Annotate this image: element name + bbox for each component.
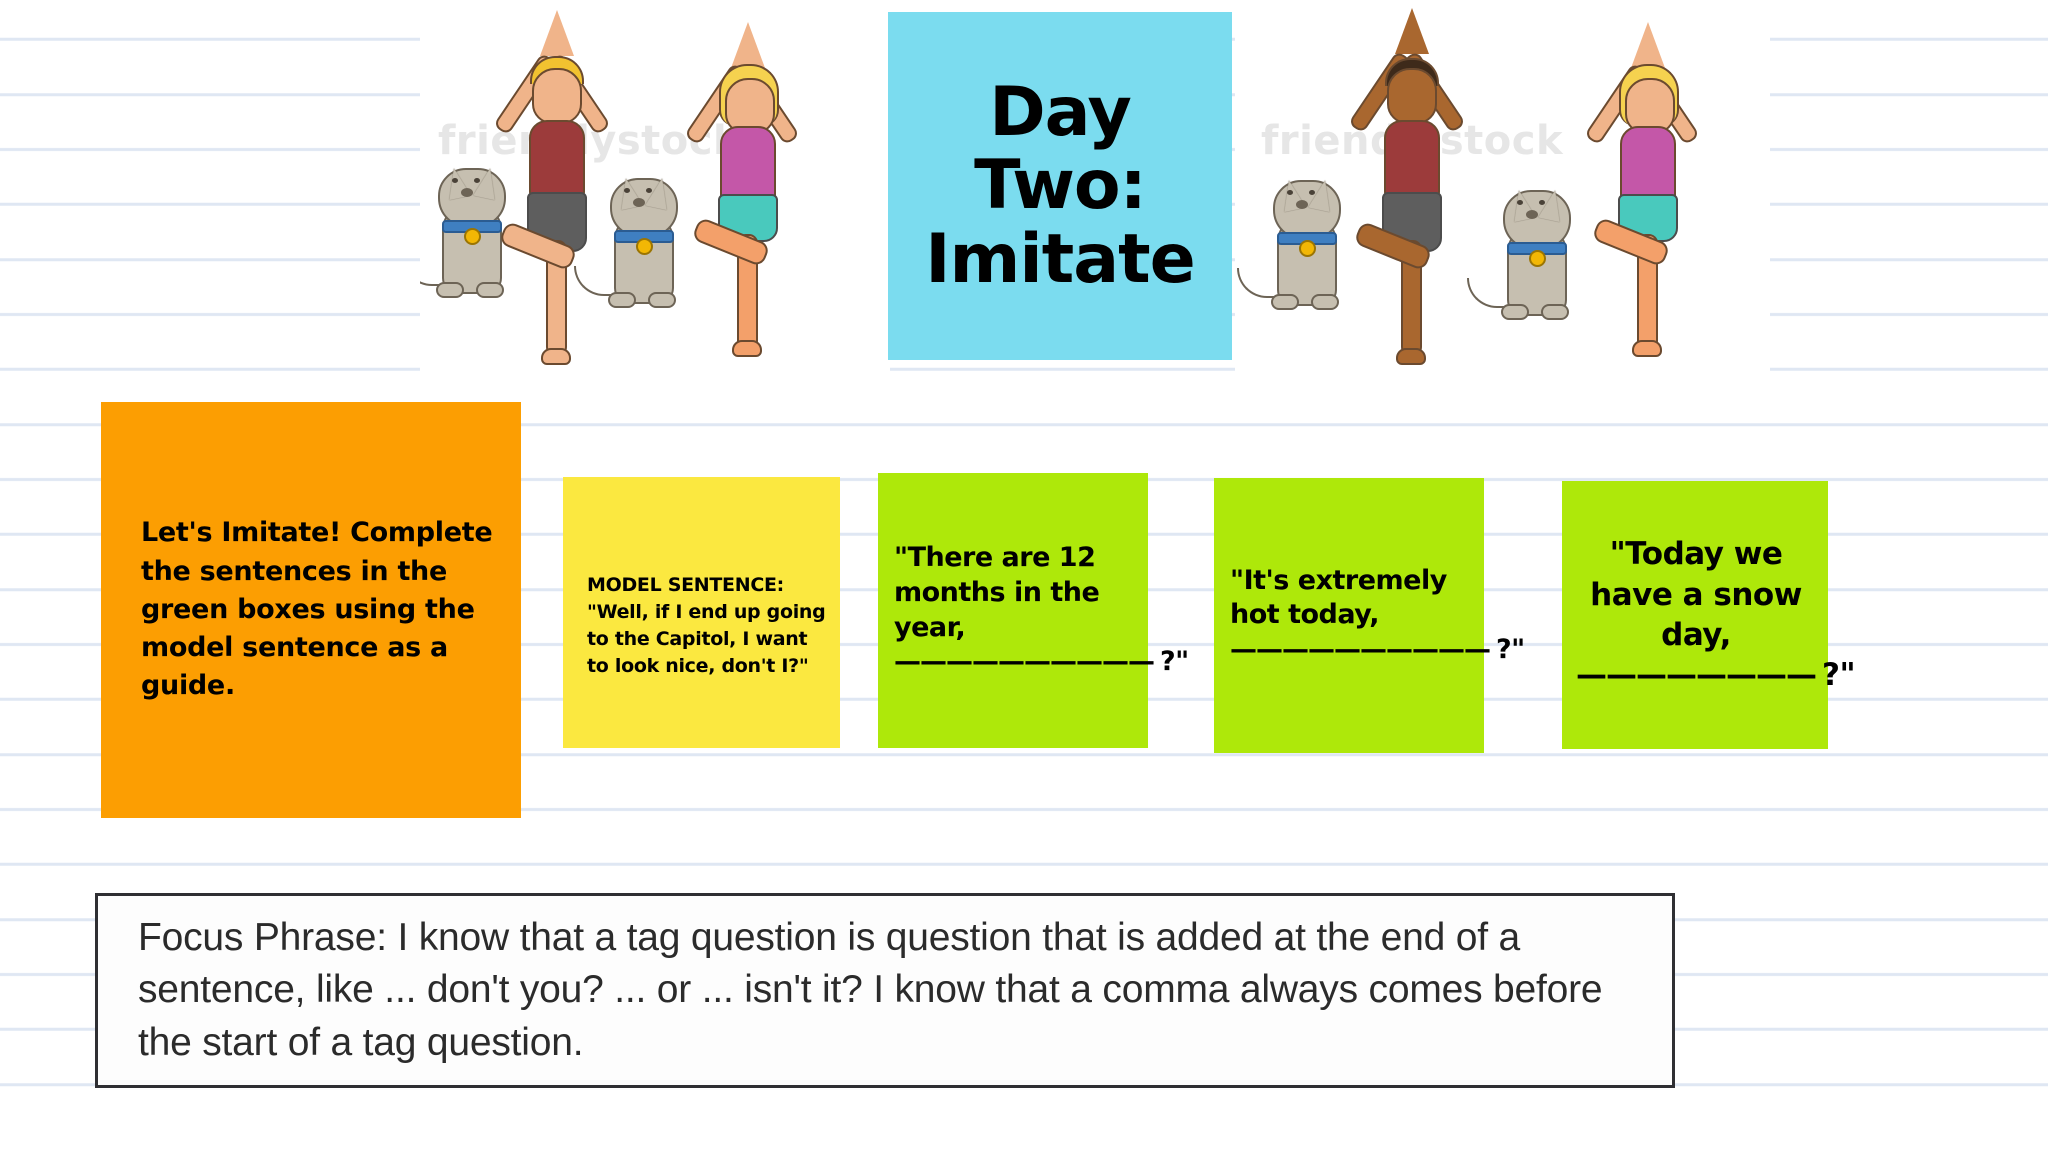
focus-phrase-text: Focus Phrase: I know that a tag question… — [98, 912, 1672, 1070]
instruction-text: Let's Imitate! Complete the sentences in… — [101, 514, 521, 706]
answer-blank-2[interactable]: —————————— — [1230, 634, 1490, 665]
model-sentence-text: MODEL SENTENCE: "Well, if I end up going… — [563, 545, 840, 680]
practice-card-2[interactable]: "It's extremely hot today, ——————————?" — [1214, 478, 1484, 753]
model-sentence-card: MODEL SENTENCE: "Well, if I end up going… — [563, 477, 840, 748]
slide-canvas: friendlystock — [0, 0, 2048, 1152]
practice-text-1: "There are 12 months in the year, ——————… — [878, 541, 1148, 679]
practice-sentence-2: "It's extremely hot today, — [1230, 565, 1447, 631]
practice-sentence-3: "Today we have a snow day, — [1590, 536, 1802, 653]
practice-text-3: "Today we have a snow day, ————————?" — [1562, 534, 1828, 695]
instruction-card: Let's Imitate! Complete the sentences in… — [101, 402, 521, 818]
practice-ending-1: ?" — [1160, 646, 1189, 677]
yoga-illustration-right: friendlystock — [1235, 0, 1770, 372]
model-sentence-label: MODEL SENTENCE: — [587, 574, 784, 596]
practice-card-1[interactable]: "There are 12 months in the year, ——————… — [878, 473, 1148, 748]
yoga-illustration-left: friendlystock — [420, 0, 890, 372]
answer-blank-1[interactable]: —————————— — [894, 646, 1154, 677]
answer-blank-3[interactable]: ———————— — [1576, 657, 1816, 693]
day-title-text: Day Two: Imitate — [925, 76, 1194, 296]
practice-ending-3: ?" — [1822, 657, 1855, 693]
focus-phrase-box: Focus Phrase: I know that a tag question… — [95, 893, 1675, 1088]
practice-sentence-1: "There are 12 months in the year, — [894, 542, 1099, 642]
practice-text-2: "It's extremely hot today, ——————————?" — [1214, 564, 1484, 668]
day-title-card: Day Two: Imitate — [888, 12, 1232, 360]
model-sentence-body: "Well, if I end up going to the Capitol,… — [587, 601, 825, 677]
practice-ending-2: ?" — [1496, 634, 1525, 665]
practice-card-3[interactable]: "Today we have a snow day, ————————?" — [1562, 481, 1828, 749]
